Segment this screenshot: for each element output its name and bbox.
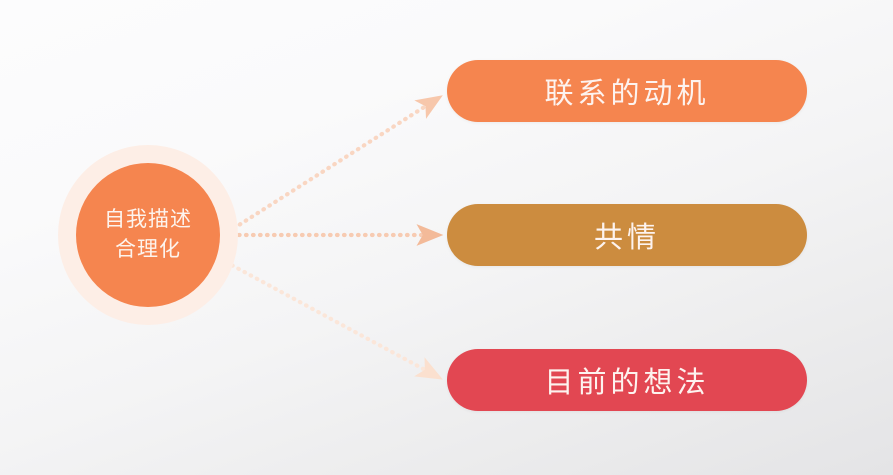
- hub-label-line-1: 自我描述: [104, 205, 192, 235]
- node-empathy[interactable]: 共情: [447, 204, 807, 266]
- node-label: 联系的动机: [544, 70, 709, 112]
- connector-hub-to-contact-motivation: [228, 97, 440, 232]
- node-label: 目前的想法: [544, 359, 709, 401]
- hub-core: 自我描述 合理化: [76, 163, 220, 307]
- hub-node-self-description-rationalization[interactable]: 自我描述 合理化: [58, 145, 238, 325]
- diagram-canvas: 自我描述 合理化 联系的动机 共情 目前的想法: [0, 0, 893, 475]
- node-label: 共情: [594, 214, 660, 256]
- hub-label-line-2: 合理化: [115, 235, 181, 265]
- node-current-thoughts[interactable]: 目前的想法: [447, 349, 807, 411]
- node-contact-motivation[interactable]: 联系的动机: [447, 60, 807, 122]
- connector-hub-to-current-thoughts: [226, 262, 440, 378]
